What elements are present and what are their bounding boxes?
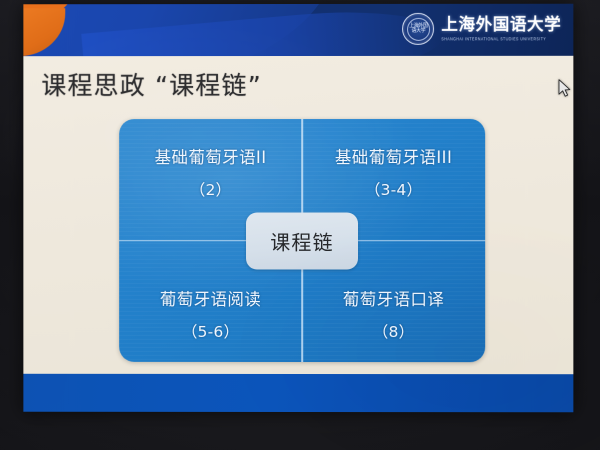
course-chain-diagram: 基础葡萄牙语II （2） 基础葡萄牙语III （3-4） 葡萄牙语阅读 （5-6… [119, 119, 485, 362]
diagram-center-badge: 课程链 [246, 212, 358, 269]
diagram-center-label: 课程链 [270, 226, 334, 255]
projected-slide-photo: 上海外国语大学 上海外国语大学 SHANGHAI INTERNATIONAL S… [0, 0, 600, 450]
slide-title: 课程思政 “课程链” [41, 66, 262, 102]
diagram-cell-code: （3-4） [365, 178, 422, 200]
slide-header-band: 上海外国语大学 上海外国语大学 SHANGHAI INTERNATIONAL S… [23, 4, 573, 56]
university-seal-inner-text: 上海外国语大学 [407, 17, 430, 40]
university-logo: 上海外国语大学 上海外国语大学 SHANGHAI INTERNATIONAL S… [402, 13, 561, 45]
presentation-slide: 上海外国语大学 上海外国语大学 SHANGHAI INTERNATIONAL S… [23, 4, 573, 413]
slide-body: 课程思政 “课程链” 基础葡萄牙语II （2） 基础葡萄牙语III （3-4） … [23, 56, 573, 374]
diagram-cell-name: 基础葡萄牙语II [155, 149, 267, 167]
diagram-cell-code: （8） [373, 320, 415, 342]
university-logo-text: 上海外国语大学 SHANGHAI INTERNATIONAL STUDIES U… [441, 17, 561, 41]
university-name-en: SHANGHAI INTERNATIONAL STUDIES UNIVERSIT… [441, 37, 561, 42]
diagram-cell-name: 基础葡萄牙语III [335, 149, 452, 167]
university-name-cn: 上海外国语大学 [441, 17, 561, 34]
diagram-cell-code: （5-6） [182, 320, 239, 342]
diagram-cell-code: （2） [190, 178, 231, 200]
slide-footer-band [23, 374, 573, 412]
diagram-cell-name: 葡萄牙语阅读 [160, 291, 261, 309]
diagram-cell-name: 葡萄牙语口译 [343, 291, 444, 309]
university-seal-icon: 上海外国语大学 [402, 13, 434, 45]
